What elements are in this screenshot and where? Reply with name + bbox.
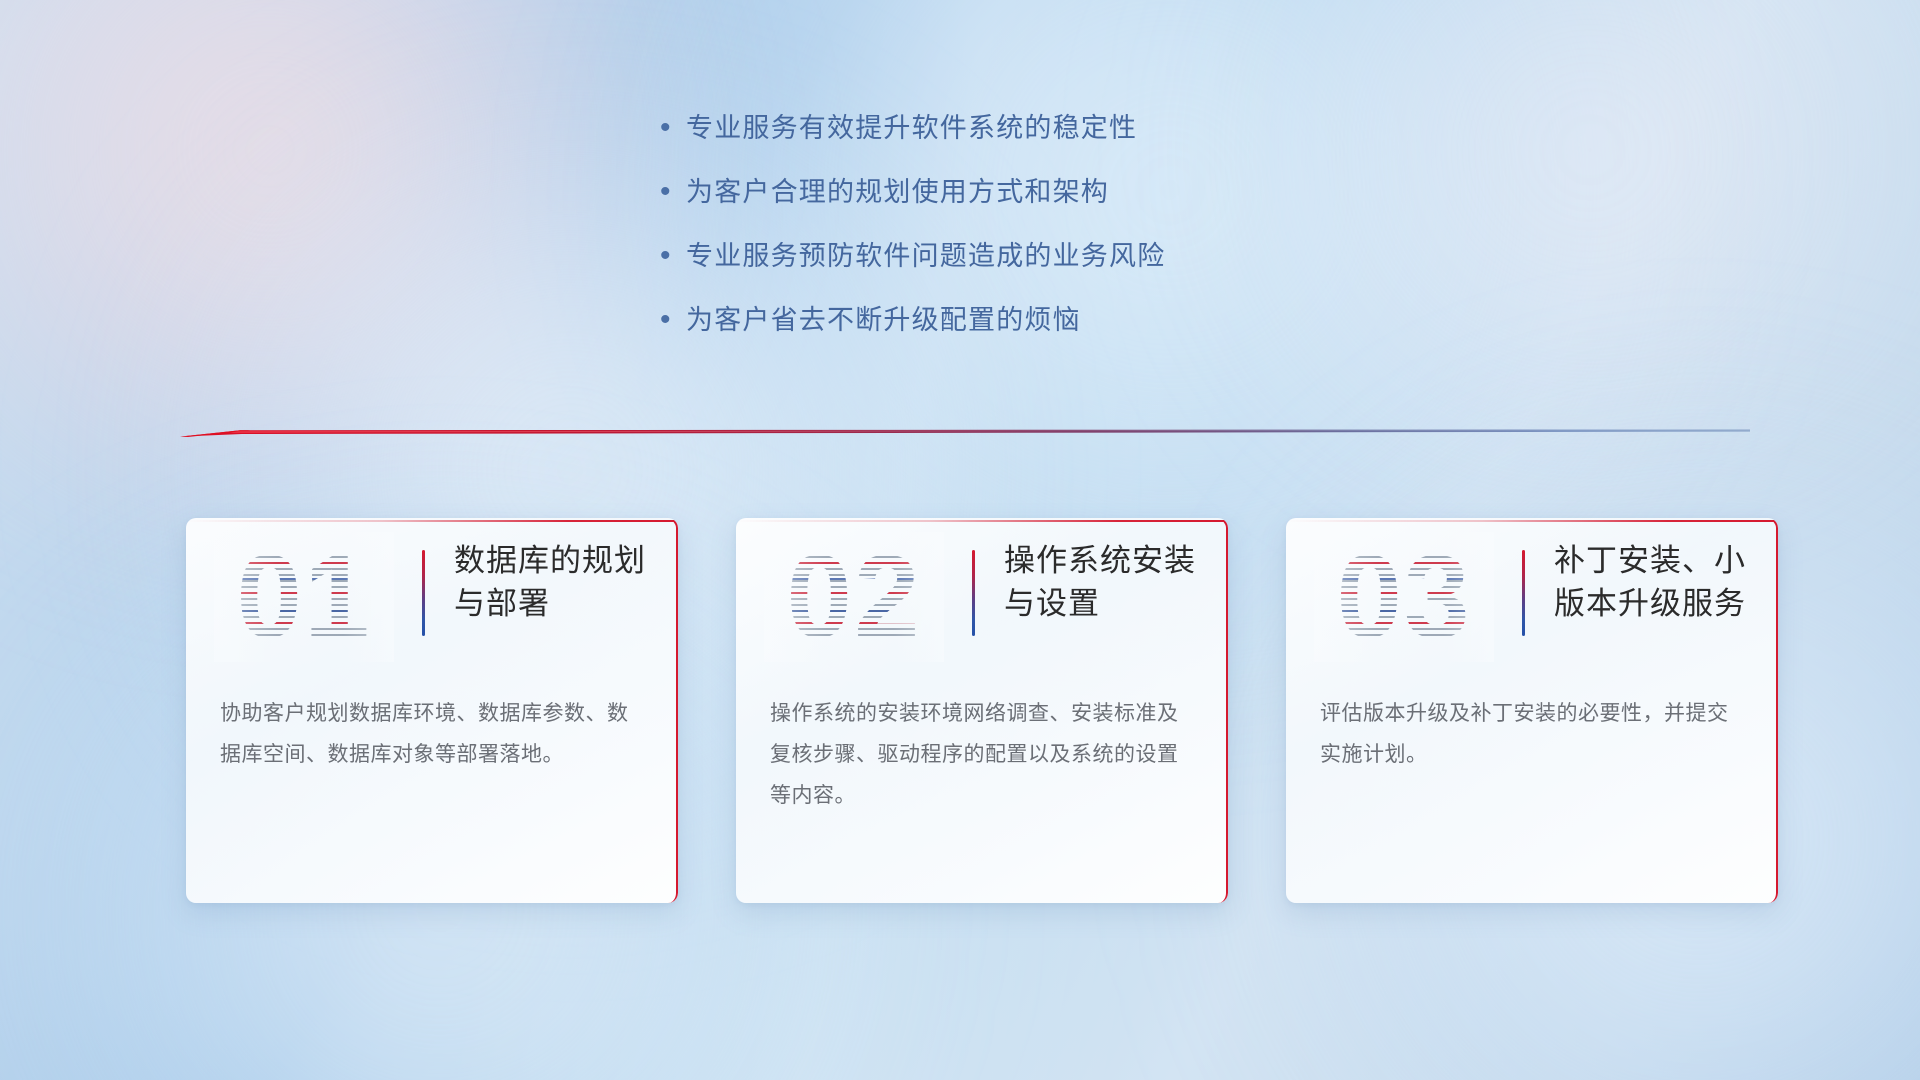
list-item: • 专业服务预防软件问题造成的业务风险 — [660, 240, 1165, 304]
card-number-fade-overlay — [764, 532, 944, 662]
bullet-text: 为客户省去不断升级配置的烦恼 — [686, 304, 1081, 336]
card-description: 操作系统的安装环境网络调查、安装标准及复核步骤、驱动程序的配置以及系统的设置等内… — [770, 694, 1196, 817]
service-card[interactable]: 02 02 操作系统安装与设置 操作系统的安装环境网络调查、安装标准及复核步骤、… — [736, 518, 1228, 903]
card-accent-bar — [972, 550, 975, 636]
card-title: 操作系统安装与设置 — [1004, 540, 1206, 626]
card-header: 01 01 数据库的规划与部署 — [186, 518, 678, 668]
card-number-watermark: 01 01 — [214, 532, 394, 662]
bullet-text: 为客户合理的规划使用方式和架构 — [686, 176, 1109, 208]
card-title: 数据库的规划与部署 — [454, 540, 656, 626]
bullet-text: 专业服务有效提升软件系统的稳定性 — [686, 112, 1137, 144]
card-description: 评估版本升级及补丁安装的必要性，并提交实施计划。 — [1320, 694, 1746, 776]
bullet-dot-icon: • — [660, 305, 686, 335]
card-description: 协助客户规划数据库环境、数据库参数、数据库空间、数据库对象等部署落地。 — [220, 694, 646, 776]
list-item: • 专业服务有效提升软件系统的稳定性 — [660, 112, 1165, 176]
card-number-fade-overlay — [214, 532, 394, 662]
card-number-fade-overlay — [1314, 532, 1494, 662]
benefits-bullet-list: • 专业服务有效提升软件系统的稳定性 • 为客户合理的规划使用方式和架构 • 专… — [660, 112, 1165, 368]
card-number-watermark: 03 03 — [1314, 532, 1494, 662]
card-accent-bar — [422, 550, 425, 636]
list-item: • 为客户合理的规划使用方式和架构 — [660, 176, 1165, 240]
card-title: 补丁安装、小版本升级服务 — [1554, 540, 1756, 626]
bullet-dot-icon: • — [660, 113, 686, 143]
bullet-dot-icon: • — [660, 177, 686, 207]
service-card-list: 01 01 数据库的规划与部署 协助客户规划数据库环境、数据库参数、数据库空间、… — [186, 518, 1778, 903]
card-header: 03 03 补丁安装、小版本升级服务 — [1286, 518, 1778, 668]
divider-shape-icon — [180, 425, 1750, 441]
section-divider — [180, 425, 1750, 441]
service-card[interactable]: 03 03 补丁安装、小版本升级服务 评估版本升级及补丁安装的必要性，并提交实施… — [1286, 518, 1778, 903]
bullet-text: 专业服务预防软件问题造成的业务风险 — [686, 240, 1165, 272]
list-item: • 为客户省去不断升级配置的烦恼 — [660, 304, 1165, 368]
bullet-dot-icon: • — [660, 241, 686, 271]
service-card[interactable]: 01 01 数据库的规划与部署 协助客户规划数据库环境、数据库参数、数据库空间、… — [186, 518, 678, 903]
card-accent-bar — [1522, 550, 1525, 636]
card-header: 02 02 操作系统安装与设置 — [736, 518, 1228, 668]
card-number-watermark: 02 02 — [764, 532, 944, 662]
